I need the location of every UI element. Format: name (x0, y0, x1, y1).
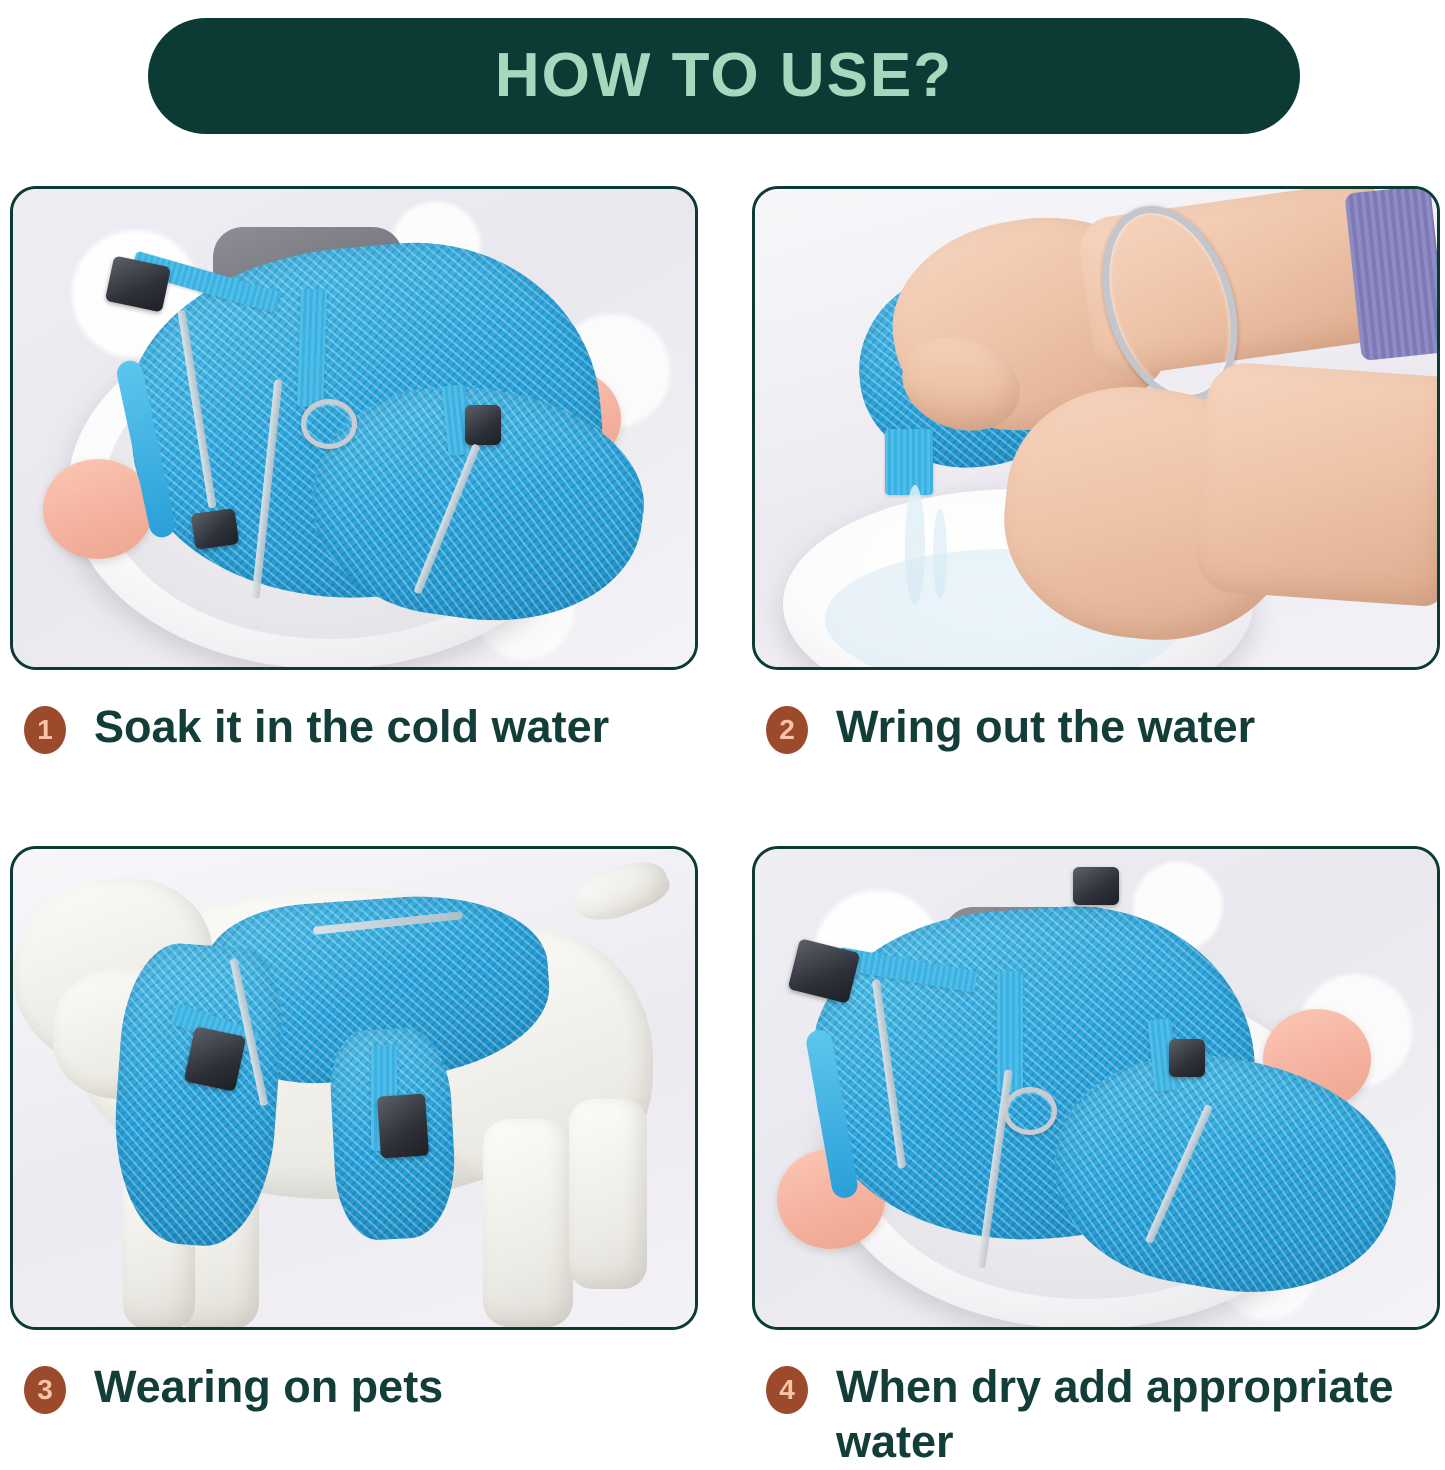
harness-strap-chest (297, 289, 327, 408)
harness-buckle-lower (191, 508, 240, 550)
water-droplets (933, 509, 947, 599)
dog-hind-leg-far (569, 1099, 647, 1289)
step-3-photo (10, 846, 698, 1330)
step-card-4: 4 When dry add appropriate water (752, 846, 1434, 1470)
step-2-caption: Wring out the water (836, 700, 1255, 755)
step-4-caption-row: 4 When dry add appropriate water (752, 1360, 1434, 1470)
worn-buckle-belly (377, 1093, 429, 1158)
step-4-photo (752, 846, 1440, 1330)
harness-buckle-side (465, 405, 501, 445)
step-1-photo (10, 186, 698, 670)
step-2-photo (752, 186, 1440, 670)
page-title: HOW TO USE? (495, 45, 953, 107)
step-1-caption: Soak it in the cold water (94, 700, 609, 755)
harness-d-ring-4 (1003, 1087, 1057, 1135)
step-card-1: 1 Soak it in the cold water (10, 186, 692, 755)
step-1-caption-row: 1 Soak it in the cold water (10, 700, 692, 755)
header-banner: HOW TO USE? (148, 18, 1300, 134)
step-1-badge: 1 (24, 706, 66, 754)
step-3-caption: Wearing on pets (94, 1360, 443, 1415)
steps-grid: 1 Soak it in the cold water (0, 186, 1445, 1445)
step-card-2: 2 Wring out the water (752, 186, 1434, 755)
water-stream (905, 485, 925, 605)
step-3-badge: 3 (24, 1366, 66, 1414)
step-3-caption-row: 3 Wearing on pets (10, 1360, 692, 1415)
step-4-caption: When dry add appropriate water (836, 1360, 1396, 1470)
step-card-3: 3 Wearing on pets (10, 846, 692, 1415)
step-2-caption-row: 2 Wring out the water (752, 700, 1434, 755)
harness-buckle-top-right-4 (1073, 867, 1119, 905)
harness-strap-hanging (885, 429, 933, 495)
dog-hind-leg-near (483, 1119, 573, 1327)
right-forearm (1193, 361, 1440, 608)
step-2-badge: 2 (766, 706, 808, 754)
harness-d-ring (301, 399, 357, 449)
purple-sleeve (1344, 186, 1440, 361)
harness-buckle-side-4 (1169, 1039, 1205, 1077)
step-4-badge: 4 (766, 1366, 808, 1414)
